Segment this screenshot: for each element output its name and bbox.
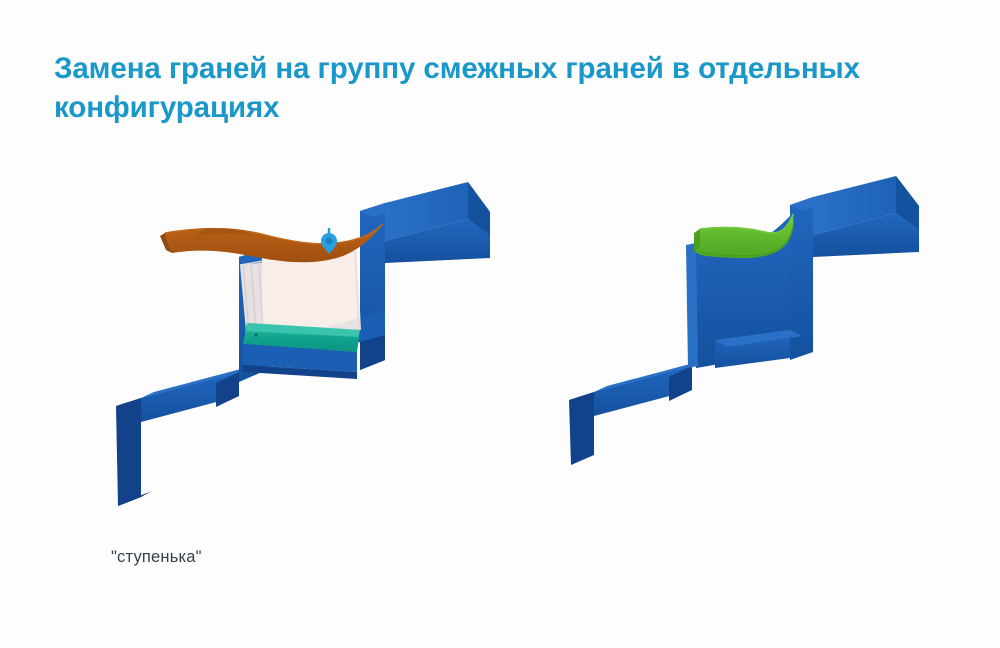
left-tail-front-b — [118, 491, 152, 506]
selected-bottom-face-hi — [245, 323, 360, 337]
selection-pin-body — [321, 233, 337, 254]
selected-top-face-shade — [195, 228, 252, 237]
result-face-top-edge — [700, 214, 793, 233]
selected-top-face[interactable] — [165, 224, 383, 262]
left-hook-lower-top — [262, 318, 372, 352]
right-tail-front — [569, 392, 594, 465]
left-stem-top — [360, 203, 397, 217]
left-hook-lower-face — [262, 318, 360, 369]
right-body-face2 — [696, 237, 790, 366]
right-arm-top — [813, 176, 919, 235]
left-sill-face — [243, 344, 357, 372]
result-face-group[interactable] — [694, 214, 793, 258]
figure-caption: "ступенька" — [111, 548, 202, 567]
left-sill-lower — [243, 365, 357, 379]
right-hook-lower-top — [715, 330, 802, 347]
left-stem-lower-edge — [360, 335, 385, 370]
right-hook-lower-face — [715, 330, 790, 368]
right-stem-face — [790, 197, 813, 360]
result-face-bottom-edge — [694, 226, 793, 256]
left-wall-front — [239, 250, 262, 382]
isoline-1 — [243, 264, 249, 331]
left-tail-front — [116, 398, 141, 506]
right-tail-top — [569, 366, 692, 400]
right-riser-side — [669, 366, 692, 401]
left-riser-face — [239, 250, 262, 372]
left-run1-top — [141, 366, 252, 398]
right-arm-face — [813, 213, 919, 257]
selected-top-face-group[interactable] — [160, 224, 383, 262]
bridge-top-rail — [240, 252, 357, 265]
right-run1-top — [594, 360, 705, 392]
right-arm-endcap — [896, 176, 919, 230]
selected-top-face-edge — [165, 224, 383, 244]
right-run1-face — [594, 366, 692, 416]
right-body-left-edge — [686, 243, 698, 368]
left-run1-face — [141, 372, 239, 422]
isoline-4 — [355, 252, 359, 330]
bottom-face-vertex — [254, 333, 258, 337]
left-tail-top — [116, 372, 239, 406]
left-riser-left — [239, 250, 262, 372]
selection-pin-dot — [326, 238, 332, 244]
right-upper-hook — [715, 176, 919, 368]
left-arm-endcap — [468, 182, 490, 236]
isoline-2 — [251, 263, 256, 331]
right-panel — [694, 216, 790, 368]
left-riser-side — [216, 372, 239, 407]
left-bridging-surface — [240, 252, 361, 332]
slide-canvas: Замена граней на группу смежных граней в… — [0, 0, 1000, 648]
selected-bottom-face[interactable] — [243, 323, 360, 352]
page-title: Замена граней на группу смежных граней в… — [54, 50, 964, 128]
right-stem-top — [790, 197, 825, 211]
selected-top-face-cap — [160, 233, 172, 253]
right-body-face — [694, 240, 762, 368]
right-solid-body — [686, 216, 790, 368]
result-face[interactable] — [694, 214, 793, 258]
selection-pin-stem — [328, 228, 330, 236]
result-face-left-cap — [694, 229, 700, 251]
bridge-quad — [240, 252, 361, 332]
left-upper-hook — [262, 182, 490, 370]
selected-bottom-face-edge — [243, 344, 357, 356]
selected-bottom-face-group[interactable] — [243, 323, 360, 356]
selection-pin-icon[interactable] — [321, 228, 337, 254]
left-lower-staircase — [116, 250, 262, 506]
left-stem-face — [360, 203, 385, 370]
right-lower-staircase — [569, 244, 715, 465]
left-arm-face — [385, 219, 490, 263]
isoline-3 — [259, 262, 263, 331]
left-sill — [243, 344, 357, 379]
left-arm-top — [385, 182, 490, 241]
left-stem-lower — [360, 310, 385, 370]
right-riser-face — [692, 244, 715, 366]
